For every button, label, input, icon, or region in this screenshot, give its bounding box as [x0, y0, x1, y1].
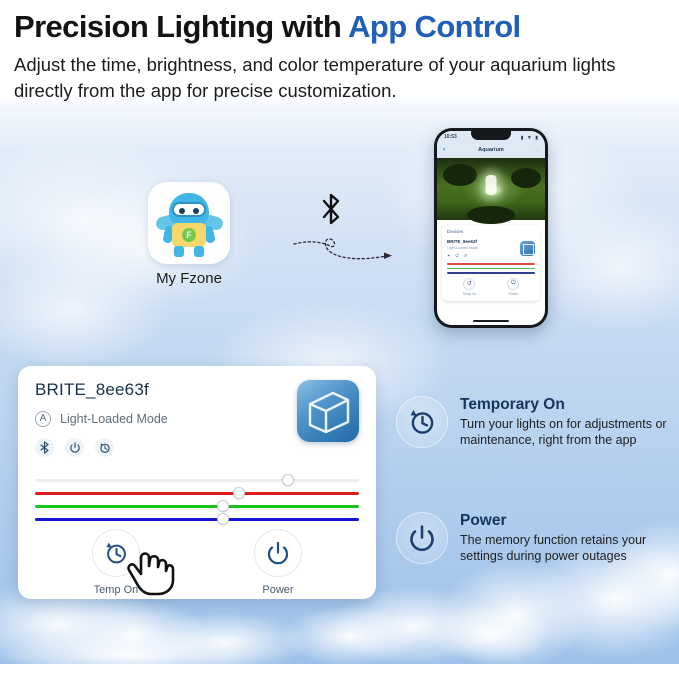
- feature-power: Power The memory function retains your s…: [396, 512, 675, 564]
- phone-cube-icon: [520, 241, 535, 256]
- feature-title: Temporary On: [460, 396, 675, 414]
- feature-temporary-on: Temporary On Turn your lights on for adj…: [396, 396, 675, 448]
- phone-power-button[interactable]: ⏻ Power: [507, 278, 519, 296]
- blue-channel-slider[interactable]: [35, 513, 359, 526]
- red-track: [35, 492, 359, 495]
- phone-nav-title: Aquarium: [437, 147, 545, 153]
- phone-screen: 10:53 ▮ ▼ ▮ ‹ Aquarium ··· Devices BRITE…: [437, 131, 545, 325]
- slider-group: [35, 474, 359, 526]
- phone-action-buttons: ↺ Temp On ⏻ Power: [447, 278, 535, 296]
- phone-mockup: 10:53 ▮ ▼ ▮ ‹ Aquarium ··· Devices BRITE…: [434, 128, 548, 328]
- blue-track: [35, 518, 359, 521]
- headline-accent: App Control: [348, 9, 520, 44]
- mascot-badge: F: [182, 228, 196, 242]
- green-channel-slider[interactable]: [35, 500, 359, 513]
- feature-desc: The memory function retains your setting…: [460, 532, 675, 564]
- power-icon[interactable]: [65, 438, 84, 457]
- phone-power-icon: ⏻: [507, 278, 519, 290]
- blue-knob[interactable]: [217, 513, 229, 525]
- app-label: My Fzone: [146, 270, 232, 287]
- headline-plain: Precision Lighting with: [14, 9, 348, 44]
- green-track: [35, 505, 359, 508]
- aquarium-photo: [437, 158, 545, 220]
- feature-desc: Turn your lights on for adjustments or m…: [460, 416, 675, 448]
- power-icon: [396, 512, 448, 564]
- page-subtitle: Adjust the time, brightness, and color t…: [14, 52, 667, 104]
- phone-nav-bar: ‹ Aquarium ···: [437, 144, 545, 158]
- phone-more-button[interactable]: ···: [534, 148, 539, 154]
- red-knob[interactable]: [233, 487, 245, 499]
- light-glow: [486, 175, 497, 195]
- bluetooth-icon[interactable]: [35, 438, 54, 457]
- power-glyph-icon: [254, 529, 302, 577]
- red-channel-slider[interactable]: [35, 487, 359, 500]
- my-fzone-app-icon[interactable]: F: [148, 182, 230, 264]
- phone-sliders: [447, 263, 535, 274]
- action-button-row: Temp On Power: [35, 529, 359, 596]
- phone-temp-on-button[interactable]: ↺ Temp On: [463, 278, 477, 296]
- power-label: Power: [233, 584, 323, 596]
- phone-status-time: 10:53: [444, 134, 457, 140]
- hand-pointer-icon: [125, 540, 175, 601]
- bluetooth-icon: [320, 192, 342, 231]
- brightness-slider[interactable]: [35, 474, 359, 487]
- device-cube-icon[interactable]: [297, 380, 359, 442]
- brightness-track: [35, 479, 359, 482]
- phone-device-card: Devices BRITE_8ee63f Light-Loaded Mode ✶…: [442, 225, 540, 301]
- mascot-goggles: [172, 202, 206, 217]
- timer-icon[interactable]: [95, 438, 114, 457]
- header: Precision Lighting with App Control Adju…: [0, 0, 679, 104]
- phone-timer-icon: ↺: [463, 278, 475, 290]
- auto-mode-badge: A: [35, 411, 51, 427]
- temporary-on-timer-icon: [396, 396, 448, 448]
- feature-title: Power: [460, 512, 675, 530]
- green-knob[interactable]: [217, 500, 229, 512]
- power-button[interactable]: Power: [233, 529, 323, 596]
- phone-power-label: Power: [507, 292, 519, 296]
- dashed-curved-arrow-icon: [292, 228, 400, 273]
- app-block[interactable]: F My Fzone: [146, 182, 232, 287]
- phone-section-label: Devices: [447, 229, 535, 234]
- phone-status-indicators: ▮ ▼ ▮: [521, 135, 539, 141]
- phone-temp-on-label: Temp On: [463, 292, 477, 296]
- page-title: Precision Lighting with App Control: [14, 8, 667, 46]
- phone-home-indicator: [473, 320, 509, 322]
- brightness-knob[interactable]: [282, 474, 294, 486]
- device-control-card: BRITE_8ee63f A Light-Loaded Mode: [18, 366, 376, 599]
- phone-notch: [471, 131, 511, 140]
- mode-label: Light-Loaded Mode: [60, 412, 168, 426]
